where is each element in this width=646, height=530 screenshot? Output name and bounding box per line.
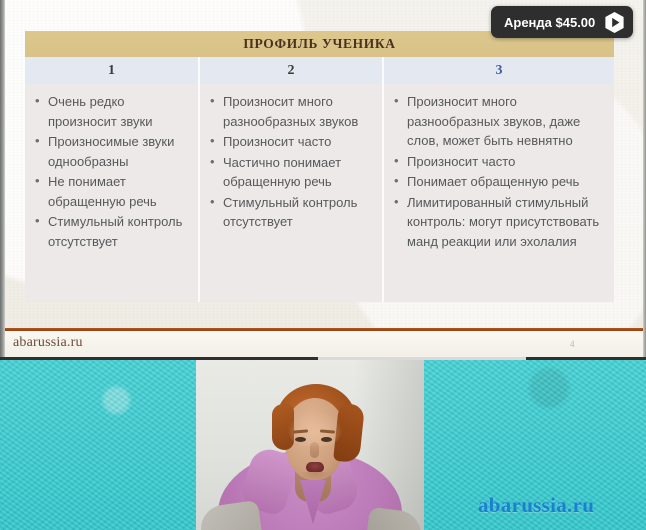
table-header-cell-3: 3 [384, 57, 614, 84]
list-item: Частично понимает обращенную речь [208, 153, 376, 192]
rent-badge[interactable]: Аренда $45.00 [491, 6, 633, 38]
eye-left [295, 437, 306, 442]
list-item: Стимульный контроль отсутствует [208, 193, 376, 232]
eye-right [321, 437, 332, 442]
desk-left [198, 500, 262, 530]
table-header-row: 1 2 3 [25, 57, 614, 84]
list-item: Произносит много разнообразных звуков, д… [392, 92, 608, 151]
table-header-cell-2: 2 [200, 57, 384, 84]
student-profile-table: ПРОФИЛЬ УЧЕНИКА 1 2 3 Очень редко произн… [25, 31, 614, 302]
video-subject-pane [196, 360, 424, 530]
list-item: Произносит много разнообразных звуков [208, 92, 376, 131]
slide-left-edge [0, 0, 5, 357]
table-cell-column-3: Произносит много разнообразных звуков, д… [384, 84, 614, 302]
chin-shadow [300, 472, 330, 480]
list-item: Произносимые звуки однообразны [33, 132, 192, 171]
list-item: Стимульный контроль отсутствует [33, 212, 192, 251]
table-cell-column-1: Очень редко произносит звуки Произносимы… [25, 84, 200, 302]
nose [310, 442, 319, 458]
footer-url-text: abarussia.ru [13, 335, 83, 351]
bullet-list-column-3: Произносит много разнообразных звуков, д… [392, 92, 608, 251]
screenshot-root: ПРОФИЛЬ УЧЕНИКА 1 2 3 Очень редко произн… [0, 0, 646, 530]
list-item: Произносит часто [208, 132, 376, 152]
video-watermark: abarussia.ru [478, 493, 594, 518]
video-player-area[interactable]: abarussia.ru [0, 357, 646, 530]
table-body-row: Очень редко произносит звуки Произносимы… [25, 84, 614, 302]
slide-area: ПРОФИЛЬ УЧЕНИКА 1 2 3 Очень редко произн… [0, 0, 646, 357]
list-item: Понимает обращенную речь [392, 172, 608, 192]
play-icon[interactable] [603, 11, 626, 34]
list-item: Очень редко произносит звуки [33, 92, 192, 131]
table-cell-column-2: Произносит много разнообразных звуков Пр… [200, 84, 384, 302]
mouth [306, 462, 324, 472]
bullet-list-column-1: Очень редко произносит звуки Произносимы… [33, 92, 192, 251]
footer-page-mark: 4 [570, 339, 575, 349]
bullet-list-column-2: Произносит много разнообразных звуков Пр… [208, 92, 376, 232]
list-item: Произносит часто [392, 152, 608, 172]
rent-price-label: Аренда $45.00 [504, 15, 595, 30]
list-item: Лимитированный стимульный контроль: могу… [392, 193, 608, 252]
slide-footer: abarussia.ru 4 [5, 331, 643, 357]
list-item: Не понимает обращенную речь [33, 172, 192, 211]
table-header-cell-1: 1 [25, 57, 200, 84]
